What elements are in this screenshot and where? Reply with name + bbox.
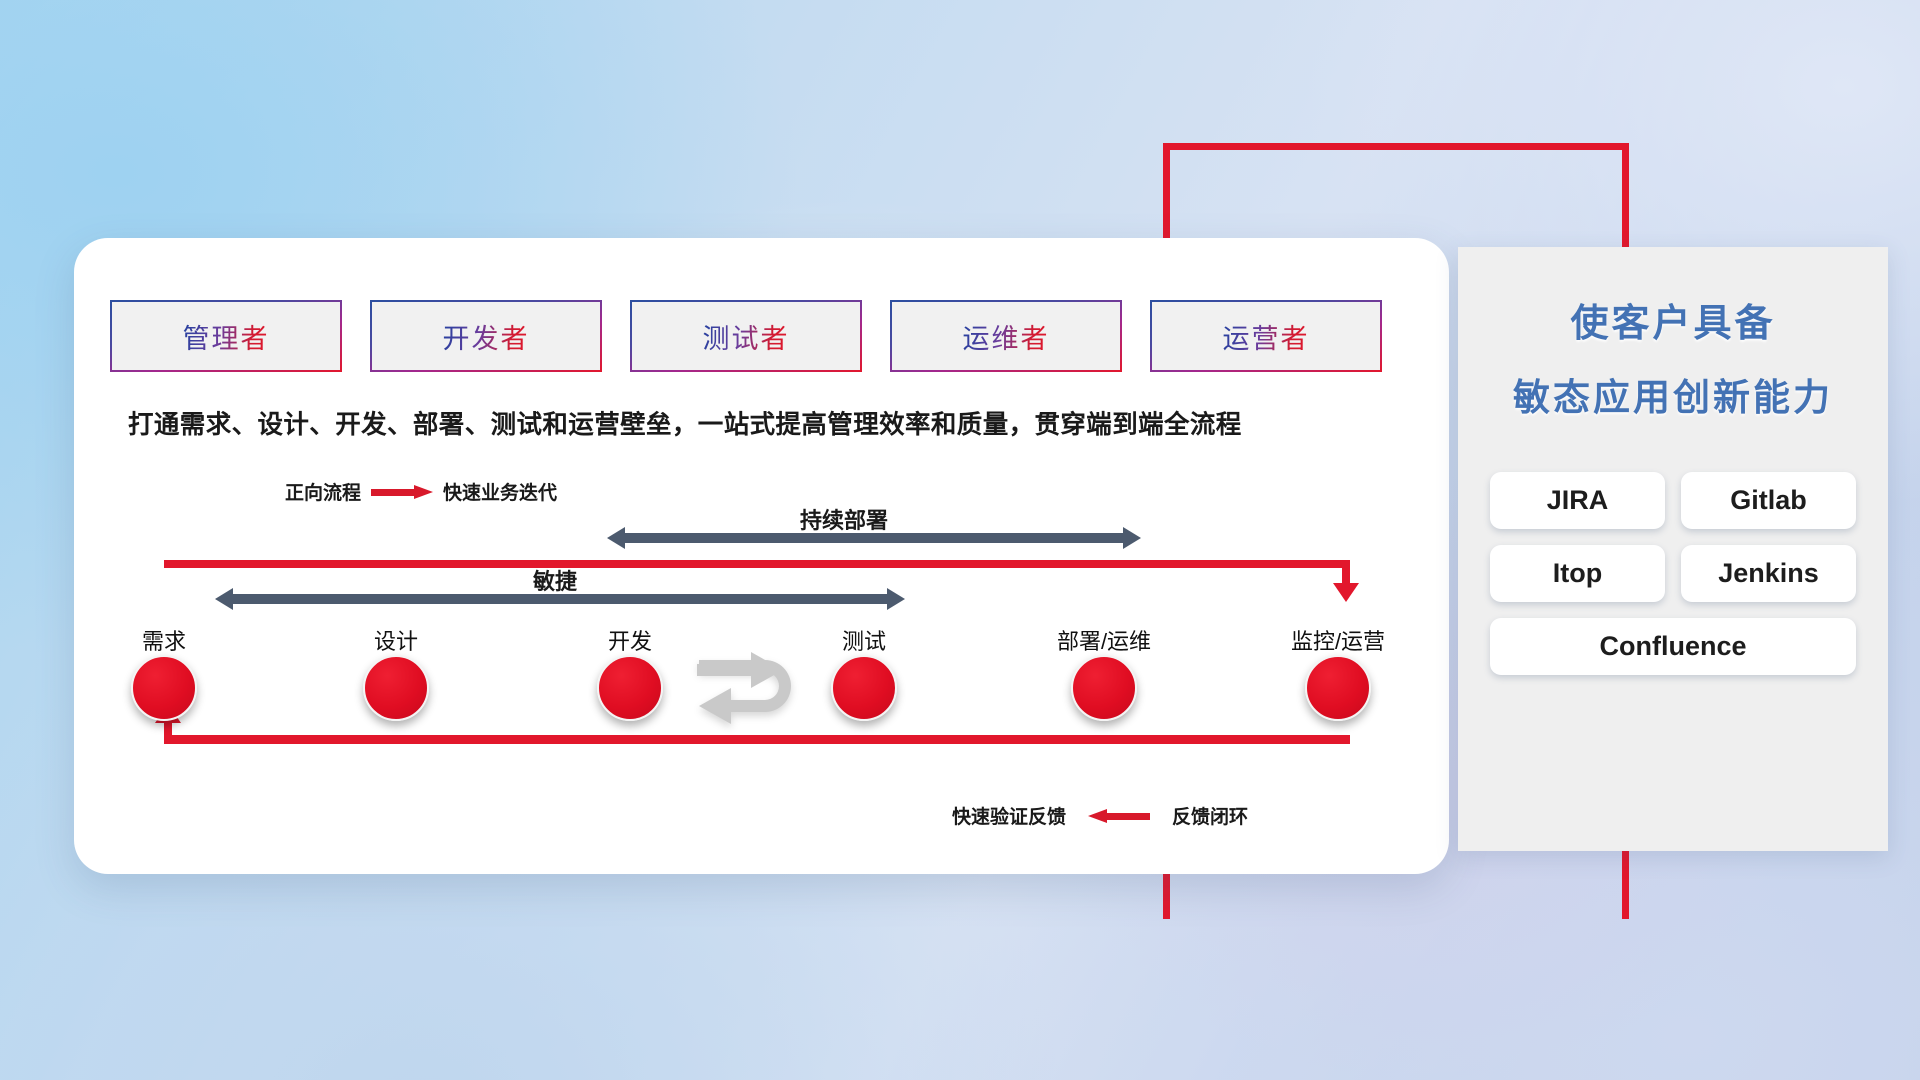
arrow-left-icon: [1088, 809, 1150, 823]
role-chip-developer[interactable]: 开发者: [370, 300, 602, 372]
panel-headline-line1: 使客户具备: [1458, 292, 1888, 347]
tool-chip-gitlab[interactable]: Gitlab: [1681, 472, 1856, 529]
stage-dot-develop[interactable]: [597, 655, 663, 721]
role-chip-operations[interactable]: 运营者: [1150, 300, 1382, 372]
stage-label-test: 测试: [842, 624, 886, 656]
tool-chip-jira[interactable]: JIRA: [1490, 472, 1665, 529]
slide-canvas: 管理者 开发者 测试者 运维者 运营者 打通需求、设计、开发、部署、测试和运营壁…: [0, 0, 1920, 1080]
role-chip-row: 管理者 开发者 测试者 运维者 运营者: [110, 300, 1382, 372]
span-arrow-continuous-deploy: [607, 527, 1141, 549]
stage-up-arrow-design: [383, 718, 409, 744]
flow-arrow-3-icon: [942, 665, 1018, 707]
role-chip-ops[interactable]: 运维者: [890, 300, 1122, 372]
stage-label-design: 设计: [374, 624, 418, 656]
stage-dot-requirement[interactable]: [131, 655, 197, 721]
stage-dot-deploy-ops[interactable]: [1071, 655, 1137, 721]
flow-arrow-1-icon: [242, 665, 318, 707]
stage-dot-monitor-operate[interactable]: [1305, 655, 1371, 721]
legend-feedback-left-label: 快速验证反馈: [952, 802, 1066, 829]
arrow-right-icon: [371, 485, 433, 499]
tool-chip-jenkins[interactable]: Jenkins: [1681, 545, 1856, 602]
stage-label-monitor-operate: 监控/运营: [1291, 624, 1385, 656]
role-chip-label: 运营者: [1223, 317, 1310, 356]
span-arrow-agile: [215, 588, 905, 610]
legend-forward-right-label: 快速业务迭代: [443, 478, 557, 505]
role-chip-label: 测试者: [703, 317, 790, 356]
flow-arrow-2-icon: [474, 665, 550, 707]
legend-feedback-right-label: 反馈闭环: [1172, 802, 1248, 829]
panel-headline-line2: 敏态应用创新能力: [1458, 367, 1888, 421]
stage-label-requirement: 需求: [142, 624, 186, 656]
tool-chip-confluence[interactable]: Confluence: [1490, 618, 1856, 675]
tagline-text: 打通需求、设计、开发、部署、测试和运营壁垒，一站式提高管理效率和质量，贯穿端到端…: [128, 404, 1242, 441]
stage-label-deploy-ops: 部署/运维: [1057, 624, 1151, 656]
role-chip-label: 运维者: [963, 317, 1050, 356]
tool-chip-grid: JIRA Gitlab Itop Jenkins Confluence: [1490, 472, 1856, 675]
stage-connector-test: [851, 712, 877, 744]
role-chip-tester[interactable]: 测试者: [630, 300, 862, 372]
role-chip-label: 开发者: [443, 317, 530, 356]
legend-forward-left-label: 正向流程: [285, 478, 361, 505]
stage-dot-design[interactable]: [363, 655, 429, 721]
stage-up-arrow-requirement: [151, 718, 177, 744]
role-chip-label: 管理者: [183, 317, 270, 356]
role-chip-manager[interactable]: 管理者: [110, 300, 342, 372]
legend-forward-flow: 正向流程 快速业务迭代: [285, 478, 557, 505]
value-panel: 使客户具备 敏态应用创新能力 JIRA Gitlab Itop Jenkins …: [1458, 247, 1888, 851]
iteration-loop-arrow-icon: [695, 650, 805, 736]
stage-label-develop: 开发: [608, 624, 652, 656]
stage-up-arrow-develop: [617, 718, 643, 744]
legend-feedback-loop: 快速验证反馈 反馈闭环: [952, 802, 1248, 829]
tool-chip-itop[interactable]: Itop: [1490, 545, 1665, 602]
flow-arrow-4-icon: [1184, 665, 1260, 707]
